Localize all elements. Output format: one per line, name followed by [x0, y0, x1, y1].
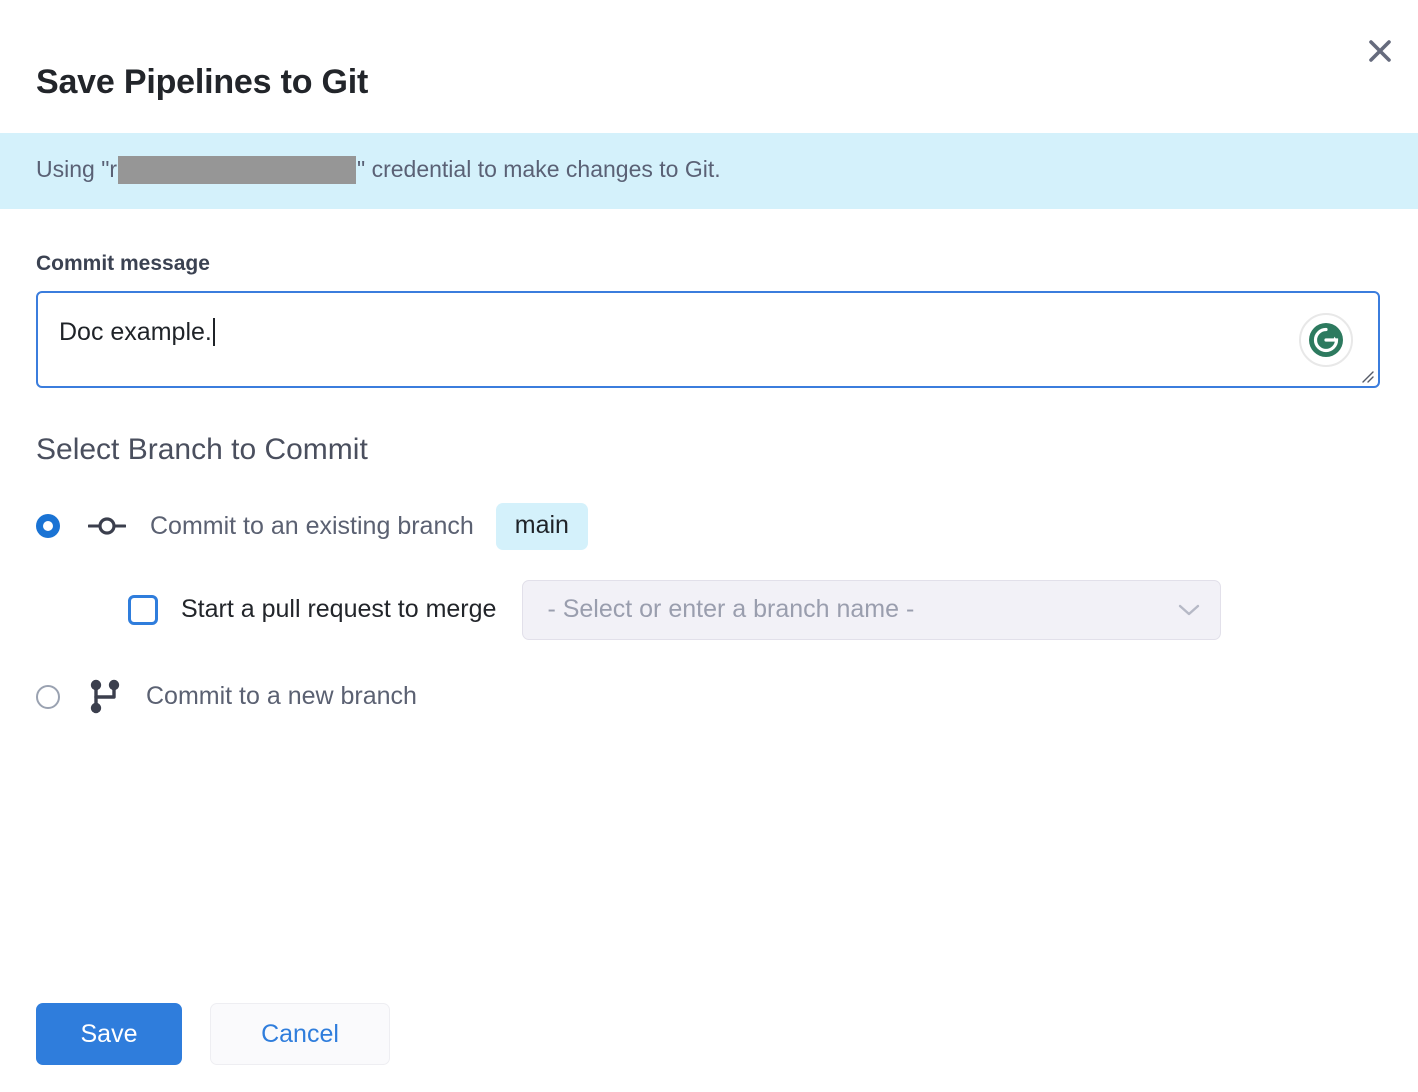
form-area: Commit message Doc example. Select Branc…: [0, 253, 1418, 716]
merge-branch-select[interactable]: - Select or enter a branch name -: [522, 580, 1221, 640]
chevron-down-icon: [1178, 603, 1200, 617]
close-icon: [1367, 38, 1393, 64]
branch-section-heading: Select Branch to Commit: [36, 435, 1382, 465]
commit-message-value: Doc example.: [59, 318, 212, 346]
git-commit-icon: [88, 514, 126, 538]
dialog-title: Save Pipelines to Git: [0, 0, 1418, 103]
text-cursor: [213, 318, 215, 346]
commit-message-input[interactable]: Doc example.: [36, 291, 1380, 388]
dialog-footer: Save Cancel: [36, 1003, 390, 1065]
grammarly-g-icon[interactable]: [1299, 313, 1353, 367]
pull-request-label: Start a pull request to merge: [181, 597, 496, 622]
cancel-button[interactable]: Cancel: [210, 1003, 390, 1065]
textarea-resize-handle[interactable]: [1358, 367, 1374, 383]
save-button[interactable]: Save: [36, 1003, 182, 1065]
radio-row-new-branch[interactable]: Commit to a new branch: [36, 678, 1382, 716]
commit-message-label: Commit message: [36, 253, 1382, 274]
merge-branch-select-placeholder: - Select or enter a branch name -: [547, 597, 1178, 622]
git-branch-icon: [88, 678, 122, 716]
pull-request-row: Start a pull request to merge - Select o…: [36, 580, 1382, 640]
current-branch-badge: main: [496, 503, 588, 550]
banner-text-before: Using "r: [36, 155, 117, 185]
radio-existing-branch[interactable]: [36, 514, 60, 538]
start-pull-request-checkbox[interactable]: [128, 595, 158, 625]
radio-row-existing-branch[interactable]: Commit to an existing branch main: [36, 503, 1382, 550]
banner-text-after: " credential to make changes to Git.: [357, 155, 721, 185]
radio-new-branch[interactable]: [36, 685, 60, 709]
credential-info-banner: Using "r" credential to make changes to …: [0, 133, 1418, 209]
close-button[interactable]: [1360, 31, 1400, 71]
save-pipelines-to-git-dialog: Save Pipelines to Git Using "r" credenti…: [0, 0, 1418, 1092]
redacted-credential-name: [118, 156, 356, 184]
existing-branch-label: Commit to an existing branch: [150, 514, 474, 539]
new-branch-label: Commit to a new branch: [146, 684, 417, 709]
